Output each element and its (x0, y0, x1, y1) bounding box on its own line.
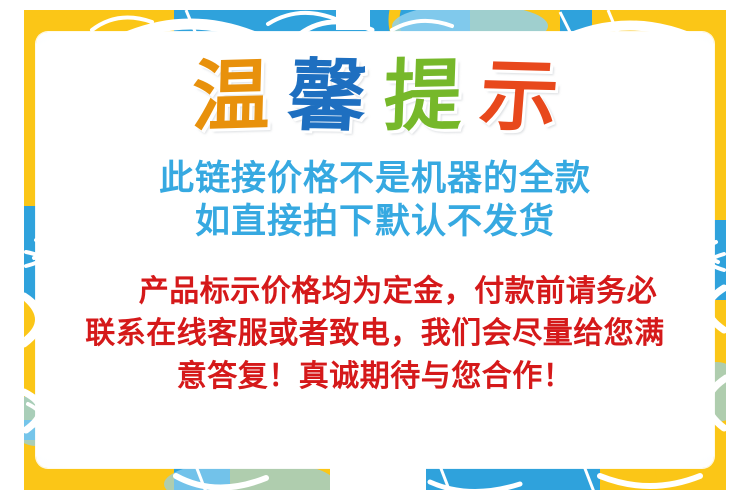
title-char-1: 温 (182, 57, 280, 137)
title-char-3: 提 (374, 57, 473, 137)
title-char-4: 示 (468, 57, 570, 137)
red-notice-line-1: 产品标示价格均为定金，付款前请务必 (55, 271, 695, 314)
notice-poster: 温 馨 提 示 此链接价格不是机器的全款 如直接拍下默认不发货 产品标示价格均为… (0, 0, 750, 500)
blue-notice-block: 此链接价格不是机器的全款 如直接拍下默认不发货 (159, 158, 591, 245)
red-notice-line-3: 意答复！真诚期待与您合作！ (55, 356, 695, 399)
page-title: 温 馨 提 示 (183, 58, 567, 136)
red-notice-block: 产品标示价格均为定金，付款前请务必 联系在线客服或者致电，我们会尽量给您满 意答… (55, 271, 695, 399)
red-notice-line-2: 联系在线客服或者致电，我们会尽量给您满 (55, 313, 695, 356)
poster-content: 温 馨 提 示 此链接价格不是机器的全款 如直接拍下默认不发货 产品标示价格均为… (36, 32, 714, 468)
blue-notice-line-2: 如直接拍下默认不发货 (159, 201, 591, 244)
blue-notice-line-1: 此链接价格不是机器的全款 (159, 158, 591, 201)
title-char-2: 馨 (276, 57, 377, 137)
